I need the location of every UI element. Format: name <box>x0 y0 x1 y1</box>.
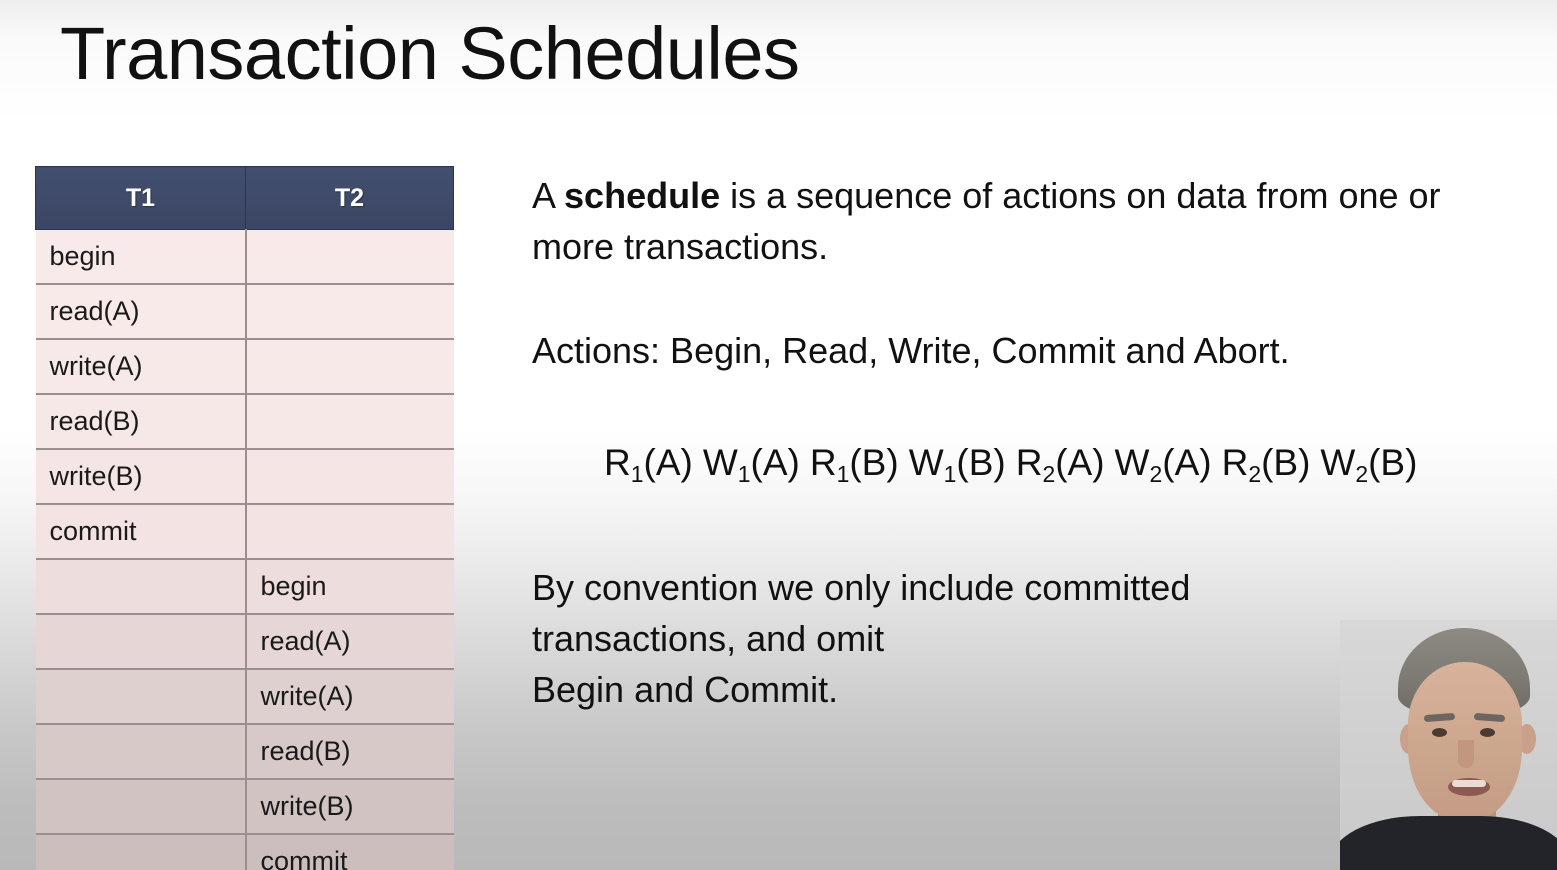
transaction-schedule-table: T1 T2 beginread(A)write(A)read(B)write(B… <box>35 166 454 870</box>
formula-op-subscript: 2 <box>1149 461 1162 487</box>
cell-t1: commit <box>36 504 246 559</box>
cell-t1: read(A) <box>36 284 246 339</box>
formula-op-letter: R <box>604 442 631 483</box>
formula-op-letter: W <box>909 442 944 483</box>
cell-t1 <box>36 779 246 834</box>
cell-t2: write(B) <box>246 779 454 834</box>
formula-op-subscript: 1 <box>837 461 850 487</box>
table-row: read(B) <box>36 724 454 779</box>
formula-op-subscript: 2 <box>1355 461 1368 487</box>
cell-t1: write(B) <box>36 449 246 504</box>
cell-t1: write(A) <box>36 339 246 394</box>
table-row: write(A) <box>36 339 454 394</box>
formula-op-letter: W <box>1115 442 1150 483</box>
column-header-t1: T1 <box>36 167 246 230</box>
presenter-eye-right <box>1480 728 1495 737</box>
presenter-webcam-overlay <box>1340 620 1557 870</box>
formula-op-argument: (A) <box>1055 442 1104 483</box>
formula-op-argument: (A) <box>1162 442 1211 483</box>
formula-op-argument: (B) <box>1261 442 1310 483</box>
formula-operation: R1(A) <box>604 442 693 483</box>
cell-t1: begin <box>36 230 246 285</box>
formula-operation: R2(B) <box>1222 442 1311 483</box>
table-row: begin <box>36 559 454 614</box>
presenter-teeth <box>1452 780 1486 787</box>
table-row: commit <box>36 834 454 870</box>
formula-operation: W2(B) <box>1320 442 1417 483</box>
cell-t2 <box>246 504 454 559</box>
formula-op-letter: W <box>1320 442 1355 483</box>
definition-bold-term: schedule <box>564 175 720 216</box>
formula-op-subscript: 1 <box>738 461 751 487</box>
cell-t2 <box>246 230 454 285</box>
cell-t1: read(B) <box>36 394 246 449</box>
formula-op-argument: (B) <box>849 442 898 483</box>
definition-prefix: A <box>532 175 564 216</box>
formula-operation: W1(B) <box>909 442 1006 483</box>
cell-t1 <box>36 724 246 779</box>
cell-t1 <box>36 834 246 870</box>
convention-paragraph: By convention we only include committedt… <box>532 562 1402 715</box>
cell-t1 <box>36 614 246 669</box>
column-header-t2: T2 <box>246 167 454 230</box>
slide-canvas: Transaction Schedules T1 T2 beginread(A)… <box>0 0 1557 870</box>
cell-t2: read(A) <box>246 614 454 669</box>
formula-operation: W1(A) <box>703 442 800 483</box>
schedule-sequence-formula: R1(A)W1(A)R1(B)W1(B)R2(A)W2(A)R2(B)W2(B) <box>604 440 1417 490</box>
cell-t1 <box>36 559 246 614</box>
cell-t2 <box>246 449 454 504</box>
page-title: Transaction Schedules <box>60 8 800 100</box>
formula-operation: R1(B) <box>810 442 899 483</box>
formula-op-letter: R <box>1222 442 1249 483</box>
actions-paragraph: Actions: Begin, Read, Write, Commit and … <box>532 325 1517 376</box>
cell-t2: begin <box>246 559 454 614</box>
formula-op-letter: R <box>1016 442 1043 483</box>
formula-op-letter: R <box>810 442 837 483</box>
presenter-nose <box>1458 740 1474 768</box>
formula-op-subscript: 2 <box>1248 461 1261 487</box>
cell-t2: read(B) <box>246 724 454 779</box>
formula-op-argument: (B) <box>956 442 1005 483</box>
schedule-definition-paragraph: A schedule is a sequence of actions on d… <box>532 170 1517 272</box>
table-row: begin <box>36 230 454 285</box>
formula-op-subscript: 2 <box>1042 461 1055 487</box>
formula-operation: R2(A) <box>1016 442 1105 483</box>
table-header-row: T1 T2 <box>36 167 454 230</box>
convention-line: transactions, and omit <box>532 613 1402 664</box>
formula-op-subscript: 1 <box>631 461 644 487</box>
cell-t1 <box>36 669 246 724</box>
table-row: write(B) <box>36 449 454 504</box>
presenter-eye-left <box>1432 728 1447 737</box>
formula-op-argument: (A) <box>644 442 693 483</box>
convention-line: Begin and Commit. <box>532 664 1402 715</box>
formula-operation: W2(A) <box>1115 442 1212 483</box>
convention-line: By convention we only include committed <box>532 562 1402 613</box>
presenter-shirt <box>1340 816 1557 870</box>
cell-t2 <box>246 284 454 339</box>
table-row: read(B) <box>36 394 454 449</box>
formula-op-subscript: 1 <box>944 461 957 487</box>
table-row: write(A) <box>36 669 454 724</box>
table-row: read(A) <box>36 614 454 669</box>
table-row: commit <box>36 504 454 559</box>
table-row: read(A) <box>36 284 454 339</box>
formula-op-argument: (B) <box>1368 442 1417 483</box>
cell-t2 <box>246 394 454 449</box>
cell-t2 <box>246 339 454 394</box>
formula-op-letter: W <box>703 442 738 483</box>
table-row: write(B) <box>36 779 454 834</box>
cell-t2: commit <box>246 834 454 870</box>
formula-op-argument: (A) <box>751 442 800 483</box>
cell-t2: write(A) <box>246 669 454 724</box>
